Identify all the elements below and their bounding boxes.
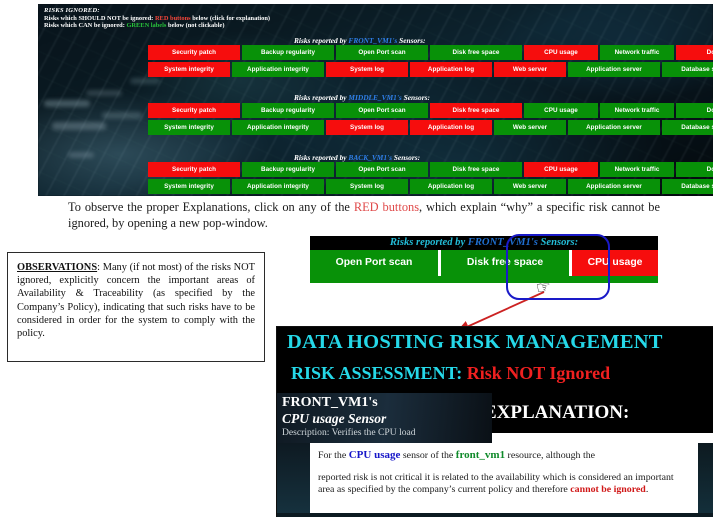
risk-button-disk-free-space: Disk free space xyxy=(430,45,522,60)
legend-line2-suffix: below (not clickable) xyxy=(168,22,224,29)
exp-keyword-cpu-usage: CPU usage xyxy=(349,449,401,461)
risk-button-application-log[interactable]: Application log xyxy=(410,120,492,135)
legend-line-should-not: Risks which SHOULD NOT be ignored: RED b… xyxy=(44,15,396,23)
risk-button-security-patch[interactable]: Security patch xyxy=(148,103,240,118)
observations-heading: OBSERVATIONS xyxy=(17,262,97,273)
risk-button-system-integrity: System integrity xyxy=(148,120,230,135)
risk-button-cpu-usage[interactable]: CPU usage xyxy=(524,162,598,177)
rack-blur-blob xyxy=(68,152,94,158)
risk-button-system-integrity: System integrity xyxy=(148,179,230,194)
section-caption-back: Risks reported by BACK_VM1's Sensors: xyxy=(294,153,420,162)
exp-l1-c: resource, although the xyxy=(505,450,595,461)
popup-right-edge xyxy=(698,443,713,517)
caption-vm-name: BACK_VM1's xyxy=(348,153,392,162)
sensor-info-card: FRONT_VM1's CPU usage Sensor Description… xyxy=(277,393,492,443)
observations-body: : Many (if not most) of the risks NOT ig… xyxy=(17,262,255,339)
risk-button-application-integrity: Application integrity xyxy=(232,120,324,135)
risk-button-application-server: Application server xyxy=(568,62,660,77)
risk-button-application-log[interactable]: Application log xyxy=(410,62,492,77)
caption-suffix: Sensors: xyxy=(392,153,420,162)
caption-prefix: Risks reported by xyxy=(294,93,348,102)
risk-button-grid-front: Security patchBackup regularityOpen Port… xyxy=(148,45,713,77)
callout-prefix: Risks reported by xyxy=(390,237,468,248)
risk-button-database-server: Database server xyxy=(662,179,713,194)
instruction-caption: To observe the proper Explanations, clic… xyxy=(68,200,660,231)
risk-button-security-patch[interactable]: Security patch xyxy=(148,45,240,60)
risk-button-application-server: Application server xyxy=(568,179,660,194)
risk-button-row-front-2: System integrityApplication integritySys… xyxy=(148,62,713,77)
legend-line1-prefix: Risks which SHOULD NOT be ignored: xyxy=(44,15,153,22)
popup-risk-assessment-line: RISK ASSESSMENT: Risk NOT Ignored xyxy=(291,363,610,384)
rack-blur-blob xyxy=(86,90,122,96)
risk-button-open-port-scan: Open Port scan xyxy=(336,103,428,118)
caption-red-buttons-keyword: RED buttons xyxy=(354,200,419,214)
risk-button-database-server: Database server xyxy=(662,120,713,135)
risk-button-dos[interactable]: DoS xyxy=(676,45,713,60)
risk-button-disk-free-space: Disk free space xyxy=(430,162,522,177)
risk-button-disk-free-space[interactable]: Disk free space xyxy=(430,103,522,118)
risk-button-application-server: Application server xyxy=(568,120,660,135)
legend-title: RISKS IGNORED: xyxy=(44,7,396,15)
rack-blur-blob xyxy=(102,112,142,119)
exp-keyword-front-vm1: front_vm1 xyxy=(456,449,505,461)
hand-cursor-icon: ☞ xyxy=(535,277,553,299)
risk-button-row-middle-1: Security patchBackup regularityOpen Port… xyxy=(148,103,713,118)
risk-button-grid-middle: Security patchBackup regularityOpen Port… xyxy=(148,103,713,135)
legend-green-keyword: GREEN labels xyxy=(126,22,166,29)
risk-button-row-middle-2: System integrityApplication integritySys… xyxy=(148,120,713,135)
caption-suffix: Sensors: xyxy=(397,36,425,45)
risk-button-open-port-scan: Open Port scan xyxy=(336,162,428,177)
risk-button-application-integrity: Application integrity xyxy=(232,179,324,194)
risk-button-web-server: Web server xyxy=(494,179,566,194)
section-caption-front: Risks reported by FRONT_VM1's Sensors: xyxy=(294,36,425,45)
risk-button-application-integrity: Application integrity xyxy=(232,62,324,77)
risk-button-network-traffic: Network traffic xyxy=(600,45,674,60)
risk-button-row-back-2: System integrityApplication integritySys… xyxy=(148,179,713,194)
risks-ignored-legend: RISKS IGNORED: Risks which SHOULD NOT be… xyxy=(44,7,396,37)
risk-button-row-back-1: Security patchBackup regularityOpen Port… xyxy=(148,162,713,177)
popup-left-edge xyxy=(277,443,310,517)
rack-blur-blob xyxy=(52,122,106,130)
risk-assessment-label: RISK ASSESSMENT: xyxy=(291,363,467,383)
risk-assessment-value: Risk NOT Ignored xyxy=(467,363,610,383)
risk-button-grid-back: Security patchBackup regularityOpen Port… xyxy=(148,162,713,194)
explanation-heading: EXPLANATION: xyxy=(484,402,629,424)
risk-button-dos: DoS xyxy=(676,103,713,118)
observations-box: OBSERVATIONS: Many (if not most) of the … xyxy=(7,252,265,362)
exp-l1-b: sensor of the xyxy=(400,450,455,461)
section-caption-middle: Risks reported by MIDDLE_VM1's Sensors: xyxy=(294,93,430,102)
sensor-name: CPU usage Sensor xyxy=(282,411,386,427)
caption-prefix: Risks reported by xyxy=(294,153,348,162)
legend-red-keyword: RED buttons xyxy=(155,15,191,22)
callout-button-open-port-scan: Open Port scan xyxy=(310,250,438,276)
risk-button-open-port-scan: Open Port scan xyxy=(336,45,428,60)
risk-button-web-server[interactable]: Web server xyxy=(494,62,566,77)
risk-button-network-traffic: Network traffic xyxy=(600,162,674,177)
risk-button-system-log: System log xyxy=(326,179,408,194)
risk-button-row-front-1: Security patchBackup regularityOpen Port… xyxy=(148,45,713,60)
risk-button-backup-regularity: Backup regularity xyxy=(242,162,334,177)
risk-button-web-server: Web server xyxy=(494,120,566,135)
risk-button-network-traffic: Network traffic xyxy=(600,103,674,118)
legend-line1-suffix: below (click for explanation) xyxy=(192,15,270,22)
caption-suffix: Sensors: xyxy=(402,93,430,102)
popup-title: DATA HOSTING RISK MANAGEMENT xyxy=(287,331,663,354)
risk-button-backup-regularity: Backup regularity xyxy=(242,103,334,118)
caption-part1: To observe the proper Explanations, clic… xyxy=(68,200,354,214)
legend-line-can: Risks which CAN be ignored: GREEN labels… xyxy=(44,22,396,30)
risk-button-system-log[interactable]: System log xyxy=(326,62,408,77)
risk-button-application-log: Application log xyxy=(410,179,492,194)
risk-button-cpu-usage: CPU usage xyxy=(524,103,598,118)
legend-line2-prefix: Risks which CAN be ignored: xyxy=(44,22,125,29)
sensor-description: Description: Verifies the CPU load xyxy=(282,427,416,438)
cpu-usage-highlight-ring xyxy=(506,234,610,300)
caption-vm-name: MIDDLE_VM1's xyxy=(348,93,401,102)
risk-button-cpu-usage[interactable]: CPU usage xyxy=(524,45,598,60)
explanation-popup-window[interactable]: DATA HOSTING RISK MANAGEMENT RISK ASSESS… xyxy=(277,327,713,517)
popup-bottom-edge xyxy=(277,513,713,517)
sensor-owner: FRONT_VM1's xyxy=(282,395,378,411)
risk-button-system-integrity[interactable]: System integrity xyxy=(148,62,230,77)
risk-button-database-server: Database server xyxy=(662,62,713,77)
exp-l1-a: For the xyxy=(318,450,349,461)
risk-button-system-log[interactable]: System log xyxy=(326,120,408,135)
explanation-line-2: reported risk is not critical it is rela… xyxy=(318,472,690,497)
exp-keyword-cannot-be-ignored: cannot be ignored xyxy=(570,484,646,495)
risk-button-backup-regularity: Backup regularity xyxy=(242,45,334,60)
explanation-text-body: For the CPU usage sensor of the front_vm… xyxy=(310,443,698,517)
risk-button-security-patch[interactable]: Security patch xyxy=(148,162,240,177)
exp-l2-b: . xyxy=(646,484,648,495)
rack-blur-blob xyxy=(44,100,90,107)
caption-vm-name: FRONT_VM1's xyxy=(348,36,397,45)
risk-button-dos: DoS xyxy=(676,162,713,177)
rack-blur-blob xyxy=(130,78,160,84)
risk-dashboard-panel: RISKS IGNORED: Risks which SHOULD NOT be… xyxy=(38,4,713,196)
explanation-line-1: For the CPU usage sensor of the front_vm… xyxy=(318,449,690,463)
caption-prefix: Risks reported by xyxy=(294,36,348,45)
